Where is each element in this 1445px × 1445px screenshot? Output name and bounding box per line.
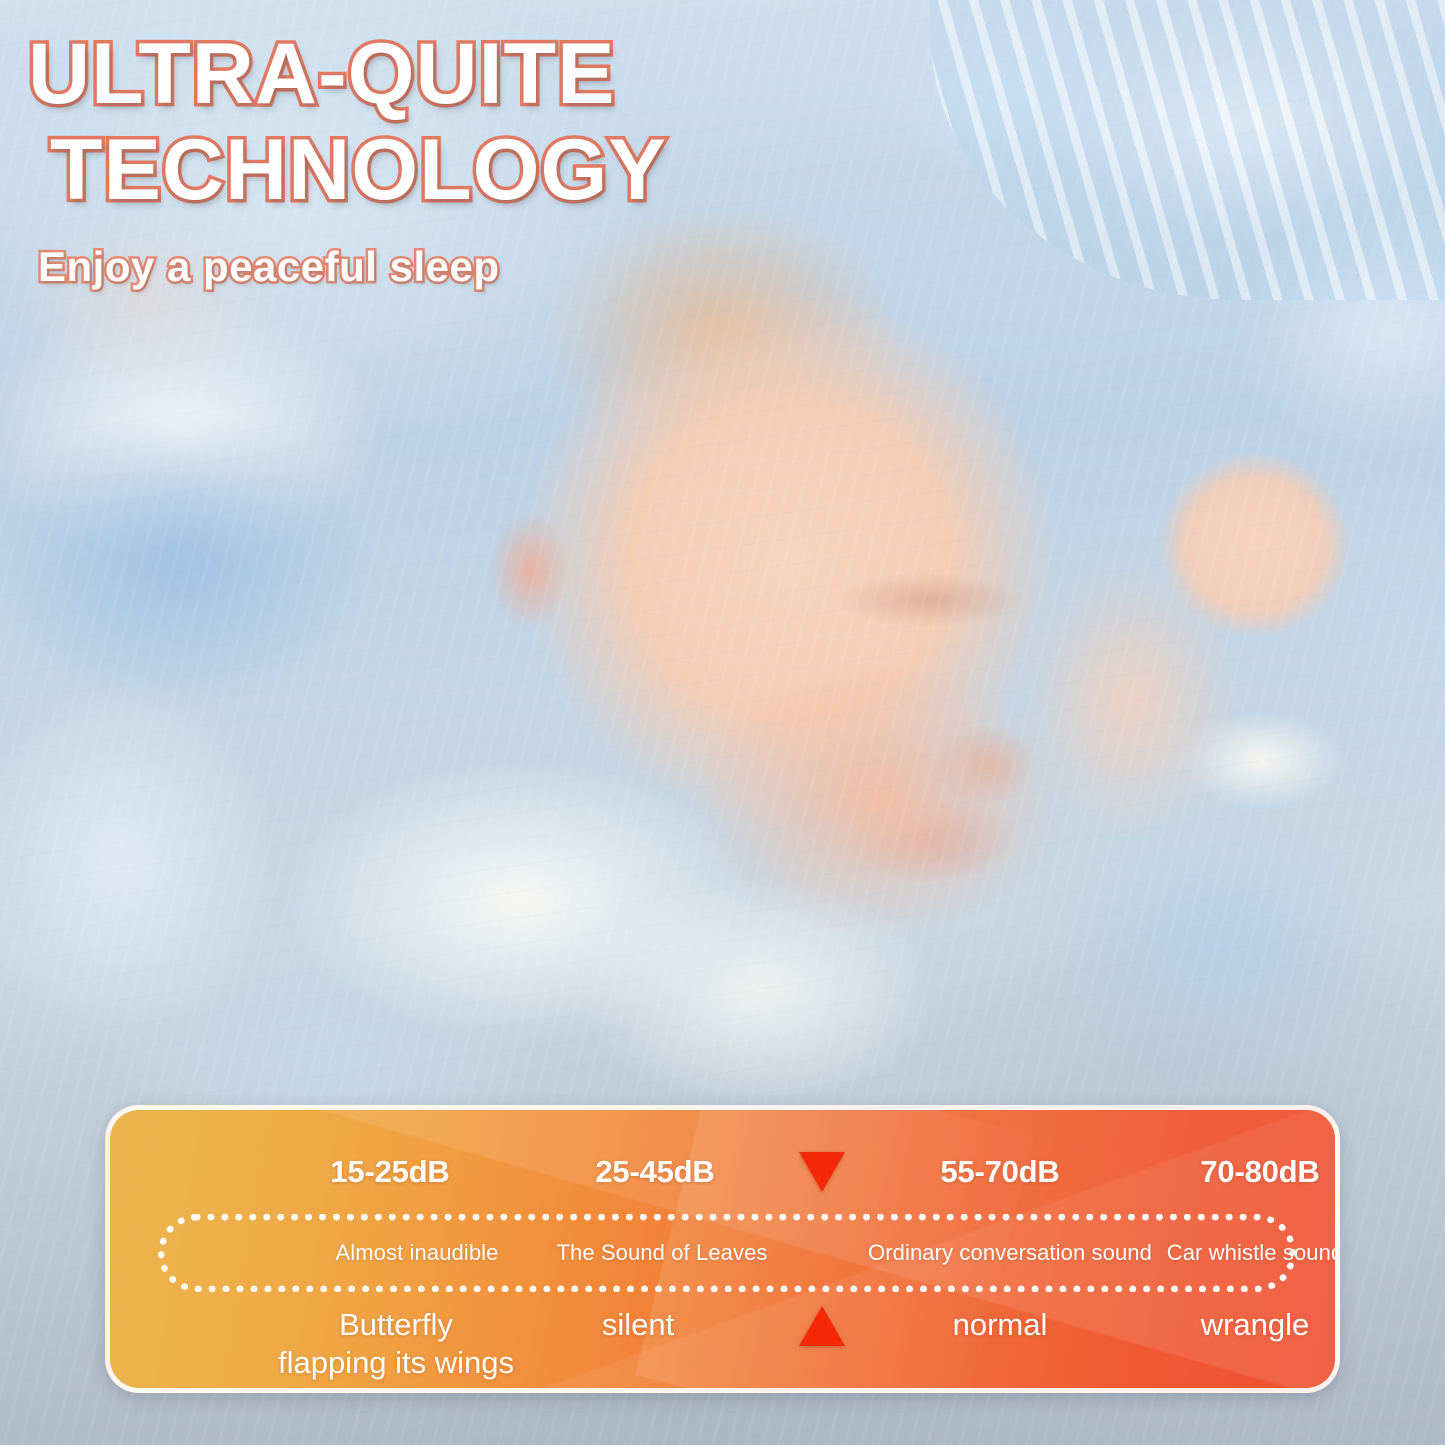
decibel-description-1: The Sound of Leaves: [556, 1240, 767, 1266]
decibel-description-0: Almost inaudible: [335, 1240, 498, 1266]
down-triangle-marker-icon: [799, 1152, 845, 1192]
decibel-description-2: Ordinary conversation sound: [868, 1240, 1152, 1266]
decibel-label-row: Butterflyflapping its wings silent norma…: [110, 1306, 1335, 1393]
decibel-scale-panel: 15-25dB 25-45dB 55-70dB 70-80dB Almost i…: [105, 1105, 1340, 1393]
decibel-description-pill: Almost inaudible The Sound of Leaves Ord…: [158, 1214, 1296, 1292]
decibel-range-3: 70-80dB: [1200, 1154, 1319, 1190]
decibel-description-3: Car whistle sound: [1167, 1240, 1340, 1266]
decibel-label-1: silent: [602, 1306, 674, 1344]
decibel-range-1: 25-45dB: [595, 1154, 714, 1190]
decibel-label-2: normal: [953, 1306, 1048, 1344]
decibel-label-3: wrangle: [1201, 1306, 1310, 1344]
decibel-range-2: 55-70dB: [940, 1154, 1059, 1190]
decibel-range-0: 15-25dB: [330, 1154, 449, 1190]
decibel-range-row: 15-25dB 25-45dB 55-70dB 70-80dB: [110, 1154, 1335, 1200]
decibel-label-0: Butterflyflapping its wings: [278, 1306, 514, 1382]
